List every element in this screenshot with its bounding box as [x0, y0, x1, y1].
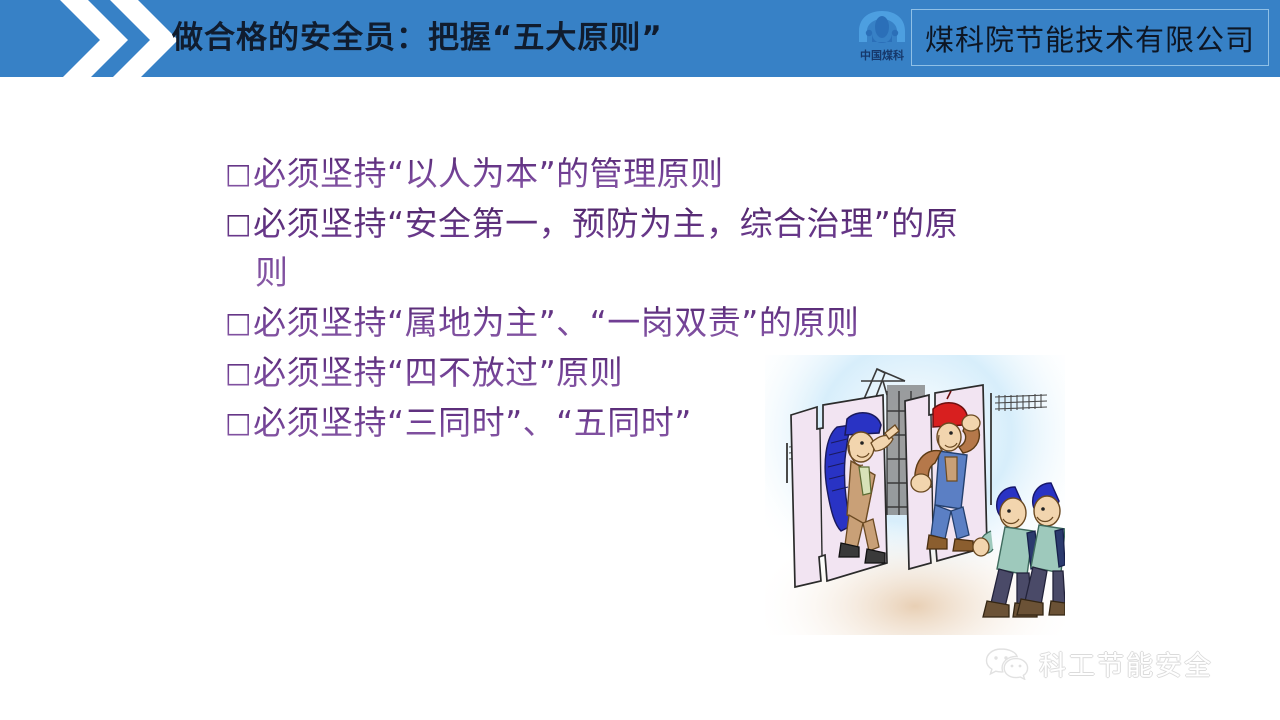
- company-name: 煤科院节能技术有限公司: [925, 17, 1255, 59]
- brand-logo: 中国煤科: [848, 9, 916, 69]
- china-coal-science-logo-icon: [856, 9, 908, 47]
- slide-content: □必须坚持“以人为本”的管理原则 □必须坚持“安全第一，预防为主，综合治理”的原…: [0, 77, 1280, 720]
- list-item-text: 必须坚持“安全第一，预防为主，综合治理”的原则: [252, 204, 958, 292]
- list-item-text: 必须坚持“四不放过”原则: [252, 353, 623, 392]
- list-item: □必须坚持“属地为主”、“一岗双责”的原则: [225, 298, 985, 347]
- watermark: 科工节能安全: [985, 642, 1255, 684]
- brand-logo-caption: 中国煤科: [848, 47, 916, 63]
- double-chevron-right-icon: [50, 0, 190, 77]
- header-bar: 做合格的安全员：把握“五大原则” 中国煤科 煤科院节能技术有限公司: [0, 0, 1280, 77]
- bullet-marker: □: [225, 356, 252, 389]
- list-item: □必须坚持“安全第一，预防为主，综合治理”的原则: [225, 199, 985, 297]
- page-title: 做合格的安全员：把握“五大原则”: [172, 16, 663, 60]
- watermark-text: 科工节能安全: [1039, 644, 1213, 683]
- bullet-marker: □: [225, 406, 252, 439]
- construction-workers-safety-poster-cartoon: [765, 355, 1065, 635]
- bullet-marker: □: [225, 207, 252, 240]
- bullet-marker: □: [225, 157, 252, 190]
- list-item-text: 必须坚持“三同时”、“五同时”: [252, 403, 692, 442]
- list-item-text: 必须坚持“属地为主”、“一岗双责”的原则: [252, 303, 859, 342]
- wechat-icon: [985, 646, 1029, 680]
- company-name-box: 煤科院节能技术有限公司: [911, 9, 1269, 66]
- bullet-marker: □: [225, 306, 252, 339]
- list-item: □必须坚持“以人为本”的管理原则: [225, 149, 985, 198]
- list-item-text: 必须坚持“以人为本”的管理原则: [252, 154, 724, 193]
